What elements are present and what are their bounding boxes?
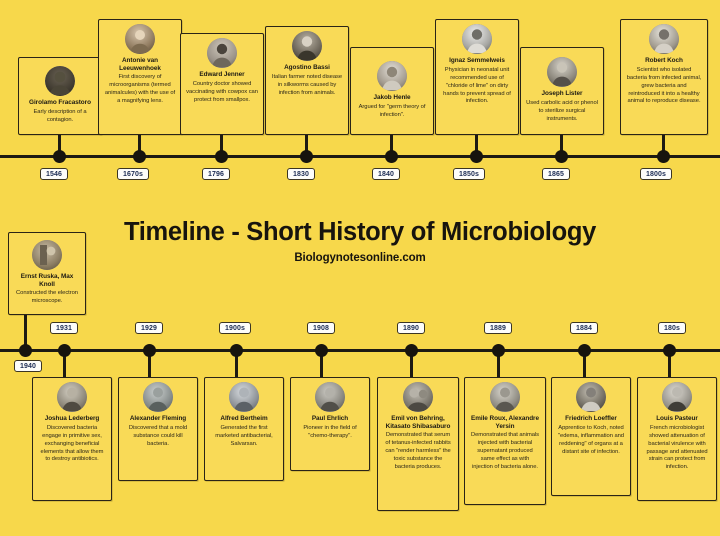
date-badge[interactable]: 180s — [658, 322, 686, 334]
timeline-node[interactable] — [470, 150, 483, 163]
person-name: Girolamo Fracastoro — [29, 99, 91, 107]
timeline-node[interactable] — [663, 344, 676, 357]
date-badge[interactable]: 1889 — [484, 322, 512, 334]
portrait-jakob-henle — [377, 61, 407, 91]
timeline-node[interactable] — [230, 344, 243, 357]
timeline-card[interactable]: Robert Koch Scientist who isolated bacte… — [620, 19, 708, 135]
timeline-node[interactable] — [53, 150, 66, 163]
timeline-card[interactable]: Louis Pasteur French microbiologist show… — [637, 377, 717, 501]
person-name: Louis Pasteur — [656, 415, 698, 423]
portrait-emil-von-behring — [403, 382, 433, 412]
timeline-card[interactable]: Alexander Fleming Discovered that a mold… — [118, 377, 198, 481]
timeline-card[interactable]: Joshua Lederberg Discovered bacteria eng… — [32, 377, 112, 501]
person-description: Demonstrated that animals injected with … — [470, 432, 540, 472]
date-badge[interactable]: 1900s — [219, 322, 251, 334]
date-badge[interactable]: 1865 — [542, 168, 570, 180]
person-description: Argued for "germ theory of infection". — [356, 104, 428, 120]
person-name: Agostino Bassi — [284, 64, 330, 72]
person-name: Jakob Henle — [373, 94, 410, 102]
person-description: Used carbolic acid or phenol to steriliz… — [526, 100, 598, 124]
page-subtitle: Biologynotesonline.com — [0, 252, 720, 264]
person-name: Ernst Ruska, Max Knoll — [14, 273, 80, 288]
timeline-card[interactable]: Antonie van Leeuwenhoek First discovery … — [98, 19, 182, 135]
portrait-antonie-van-leeuwenhoek — [125, 24, 155, 54]
person-name: Friedrich Loeffler — [565, 415, 617, 423]
portrait-joseph-lister — [547, 57, 577, 87]
date-badge[interactable]: 1546 — [40, 168, 68, 180]
person-name: Paul Ehrlich — [312, 415, 348, 423]
person-name: Joseph Lister — [542, 90, 583, 98]
person-name: Emil von Behring, Kitasato Shibasaburo — [383, 415, 453, 430]
date-badge[interactable]: 1850s — [453, 168, 485, 180]
person-description: Discovered that a mold substance could k… — [124, 425, 192, 449]
person-description: French microbiologist showed attenuation… — [643, 425, 711, 473]
portrait-agostino-bassi — [292, 31, 322, 61]
timeline-card[interactable]: Edward Jenner Country doctor showed vacc… — [180, 33, 264, 135]
timeline-card[interactable]: Emile Roux, Alexandre Yersin Demonstrate… — [464, 377, 546, 505]
date-badge-start[interactable]: 1940 — [14, 360, 42, 372]
person-description: Discovered bacteria engage in primitive … — [38, 425, 106, 465]
date-badge[interactable]: 1884 — [570, 322, 598, 334]
bottom-timeline-axis — [0, 349, 720, 352]
timeline-card[interactable]: Joseph Lister Used carbolic acid or phen… — [520, 47, 604, 135]
person-description: Constructed the electron microscope. — [14, 290, 80, 306]
timeline-node[interactable] — [657, 150, 670, 163]
person-description: Italian farmer noted disease in silkworm… — [271, 74, 343, 98]
timeline-node[interactable] — [58, 344, 71, 357]
portrait-girolamo-fracastoro — [45, 66, 75, 96]
date-badge[interactable]: 1830 — [287, 168, 315, 180]
person-name: Alexander Fleming — [130, 415, 186, 423]
portrait-alfred-bertheim — [229, 382, 259, 412]
date-badge[interactable]: 1890 — [397, 322, 425, 334]
timeline-card[interactable]: Paul Ehrlich Pioneer in the field of "ch… — [290, 377, 370, 471]
person-name: Emile Roux, Alexandre Yersin — [470, 415, 540, 430]
portrait-alexander-fleming — [143, 382, 173, 412]
portrait-edward-jenner — [207, 38, 237, 68]
timeline-card[interactable]: Ernst Ruska, Max Knoll Constructed the e… — [8, 232, 86, 315]
date-badge[interactable]: 1800s — [640, 168, 672, 180]
portrait-ernst-ruska-max-knoll — [32, 240, 62, 270]
person-description: Apprentice to Koch, noted "edema, inflam… — [557, 425, 625, 457]
date-badge[interactable]: 1796 — [202, 168, 230, 180]
timeline-node[interactable] — [215, 150, 228, 163]
person-description: Scientist who isolated bacteria from inf… — [626, 67, 702, 107]
timeline-node[interactable] — [133, 150, 146, 163]
timeline-node[interactable] — [492, 344, 505, 357]
portrait-paul-ehrlich — [315, 382, 345, 412]
timeline-card[interactable]: Agostino Bassi Italian farmer noted dise… — [265, 26, 349, 135]
portrait-joshua-lederberg — [57, 382, 87, 412]
person-name: Antonie van Leeuwenhoek — [104, 57, 176, 72]
person-name: Edward Jenner — [199, 71, 244, 79]
timeline-node[interactable] — [385, 150, 398, 163]
top-timeline-axis — [0, 155, 720, 158]
portrait-louis-pasteur — [662, 382, 692, 412]
timeline-card[interactable]: Jakob Henle Argued for "germ theory of i… — [350, 47, 434, 135]
timeline-node[interactable] — [300, 150, 313, 163]
timeline-infographic: Girolamo Fracastoro Early description of… — [0, 0, 720, 536]
person-description: First discovery of microorganisms (terme… — [104, 74, 176, 106]
timeline-node[interactable] — [315, 344, 328, 357]
timeline-card[interactable]: Alfred Bertheim Generated the first mark… — [204, 377, 284, 481]
portrait-robert-koch — [649, 24, 679, 54]
timeline-card[interactable]: Girolamo Fracastoro Early description of… — [18, 57, 102, 135]
portrait-ignaz-semmelweis — [462, 24, 492, 54]
portrait-emile-roux-alexandre-yersin — [490, 382, 520, 412]
timeline-node[interactable] — [578, 344, 591, 357]
timeline-card[interactable]: Friedrich Loeffler Apprentice to Koch, n… — [551, 377, 631, 496]
person-description: Physician in neonatal unit recommended u… — [441, 67, 513, 107]
person-name: Ignaz Semmelweis — [449, 57, 505, 65]
timeline-node[interactable] — [405, 344, 418, 357]
date-badge[interactable]: 1931 — [50, 322, 78, 334]
portrait-friedrich-loeffler — [576, 382, 606, 412]
timeline-node[interactable] — [143, 344, 156, 357]
person-description: Early description of a contagion. — [24, 109, 96, 125]
person-description: Demonstrated that serum of tetanus-infec… — [383, 432, 453, 472]
date-badge[interactable]: 1670s — [117, 168, 149, 180]
timeline-node-start[interactable] — [19, 344, 32, 357]
person-description: Country doctor showed vaccinating with c… — [186, 81, 258, 105]
date-badge[interactable]: 1840 — [372, 168, 400, 180]
timeline-card[interactable]: Ignaz Semmelweis Physician in neonatal u… — [435, 19, 519, 135]
date-badge[interactable]: 1929 — [135, 322, 163, 334]
timeline-card[interactable]: Emil von Behring, Kitasato Shibasaburo D… — [377, 377, 459, 511]
title-block: Timeline - Short History of Microbiology… — [0, 218, 720, 264]
person-name: Alfred Bertheim — [220, 415, 267, 423]
person-name: Robert Koch — [645, 57, 683, 65]
person-name: Joshua Lederberg — [45, 415, 100, 423]
timeline-node[interactable] — [555, 150, 568, 163]
page-title: Timeline - Short History of Microbiology — [0, 218, 720, 246]
date-badge[interactable]: 1908 — [307, 322, 335, 334]
person-description: Generated the first marketed antibacteri… — [210, 425, 278, 449]
person-description: Pioneer in the field of "chemo-therapy". — [296, 425, 364, 441]
